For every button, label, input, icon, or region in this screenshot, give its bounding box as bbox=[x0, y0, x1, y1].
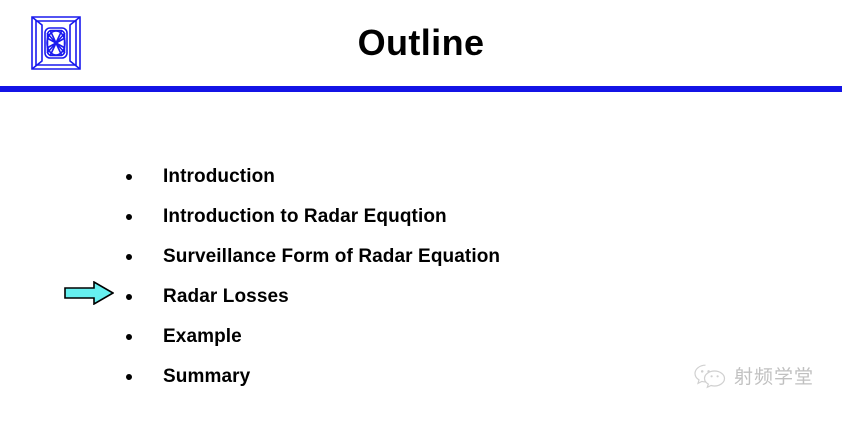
list-item-highlighted[interactable]: Radar Losses bbox=[0, 277, 842, 317]
slide-title: Outline bbox=[0, 20, 842, 66]
bullet-dot-icon bbox=[126, 254, 132, 260]
bullet-dot-icon bbox=[126, 334, 132, 340]
list-item-label: Radar Losses bbox=[163, 277, 289, 317]
list-item[interactable]: Example bbox=[0, 317, 842, 357]
watermark-label: 射频学堂 bbox=[734, 362, 814, 389]
title-divider bbox=[0, 86, 842, 92]
bullet-dot-icon bbox=[126, 294, 132, 300]
bullet-dot-icon bbox=[126, 214, 132, 220]
list-item[interactable]: Introduction to Radar Equqtion bbox=[0, 197, 842, 237]
right-arrow-icon bbox=[64, 281, 114, 305]
list-item-label: Example bbox=[163, 317, 242, 357]
slide-canvas: Outline Introduction Introduction to Rad… bbox=[0, 0, 842, 421]
outline-list: Introduction Introduction to Radar Equqt… bbox=[0, 157, 842, 397]
watermark: 射频学堂 bbox=[693, 362, 814, 389]
list-item-label: Summary bbox=[163, 357, 250, 397]
wechat-icon bbox=[693, 362, 727, 389]
list-item-label: Introduction bbox=[163, 157, 275, 197]
bullet-dot-icon bbox=[126, 374, 132, 380]
bullet-dot-icon bbox=[126, 174, 132, 180]
list-item[interactable]: Surveillance Form of Radar Equation bbox=[0, 237, 842, 277]
list-item-label: Surveillance Form of Radar Equation bbox=[163, 237, 500, 277]
list-item[interactable]: Introduction bbox=[0, 157, 842, 197]
list-item-label: Introduction to Radar Equqtion bbox=[163, 197, 447, 237]
